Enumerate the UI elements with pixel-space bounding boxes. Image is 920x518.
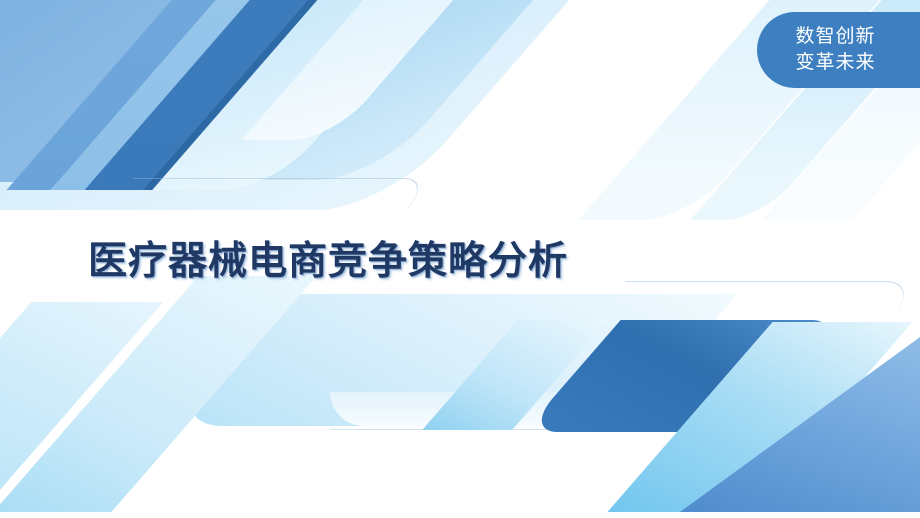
top-left-main-slab-shape [0,0,511,182]
top-left-ribbon-b-shape [51,0,372,190]
bottom-right-dark-slab-shape [523,320,845,432]
top-left-ribbon-a-shape [7,0,338,190]
slide-title: 医疗器械电商竞争策略分析 [88,230,568,286]
corner-badge: 数智创新 变革未来 [757,12,920,88]
corner-badge-line-1: 数智创新 [795,24,875,50]
bottom-left-wedge-tail-shape [330,392,670,426]
top-left-hairline-shape [107,178,435,209]
bottom-right-outline-shape [494,281,920,432]
title-slide: 数智创新 变革未来 医疗器械电商竞争策略分析 [0,0,920,518]
bottom-left-stripe-1-shape [0,302,163,512]
top-left-ribbon-c-shape [85,0,430,190]
bottom-left-stripe-2-shape [0,276,317,512]
bottom-left-wedge-shape [153,294,738,426]
top-left-backdrop-shape-2 [0,0,663,180]
bottom-hairline-shape [330,429,920,430]
top-left-pale-layer-shape [152,0,568,190]
bottom-right-pale-slab-shape [422,320,608,430]
corner-badge-line-2: 变革未来 [795,50,875,76]
bottom-right-cyan-stripe-shape [607,322,912,512]
top-left-ribbon-d-shape [143,0,456,190]
top-left-backdrop-shape [0,0,673,210]
bottom-right-corner-triangle-shape [680,337,920,512]
top-left-pale-layer-2-shape [242,0,593,140]
